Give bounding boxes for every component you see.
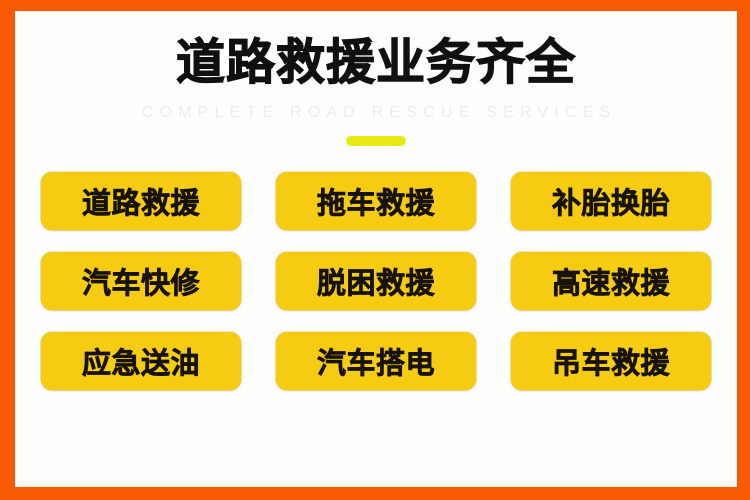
service-quick-car-repair[interactable]: 汽车快修 [41,252,241,310]
service-emergency-fuel-delivery[interactable]: 应急送油 [41,332,241,390]
service-label: 应急送油 [82,340,200,382]
service-label: 高速救援 [552,260,670,302]
service-label: 脱困救援 [317,260,435,302]
service-label: 补胎换胎 [552,180,670,222]
service-extrication-rescue[interactable]: 脱困救援 [276,252,476,310]
service-tow-truck-rescue[interactable]: 拖车救援 [276,172,476,230]
service-label: 拖车救援 [317,180,435,222]
page-subtitle: COMPLETE ROAD RESCUE SERVICES [15,104,737,122]
service-label: 汽车快修 [82,260,200,302]
page-title: 道路救援业务齐全 [15,37,737,89]
header-block: 道路救援业务齐全 COMPLETE ROAD RESCUE SERVICES [15,11,737,146]
poster-frame: 道路救援业务齐全 COMPLETE ROAD RESCUE SERVICES 道… [0,0,750,500]
service-label: 汽车搭电 [317,340,435,382]
service-crane-rescue[interactable]: 吊车救援 [511,332,711,390]
service-label: 吊车救援 [552,340,670,382]
service-highway-rescue[interactable]: 高速救援 [511,252,711,310]
service-tire-repair-replacement[interactable]: 补胎换胎 [511,172,711,230]
service-road-rescue[interactable]: 道路救援 [41,172,241,230]
service-button-grid: 道路救援 拖车救援 补胎换胎 汽车快修 脱困救援 高速救援 应急送油 汽车搭电 [15,172,737,390]
poster-content-area: 道路救援业务齐全 COMPLETE ROAD RESCUE SERVICES 道… [15,11,737,487]
service-car-jump-start[interactable]: 汽车搭电 [276,332,476,390]
service-label: 道路救援 [82,180,200,222]
accent-divider-bar [346,136,406,146]
